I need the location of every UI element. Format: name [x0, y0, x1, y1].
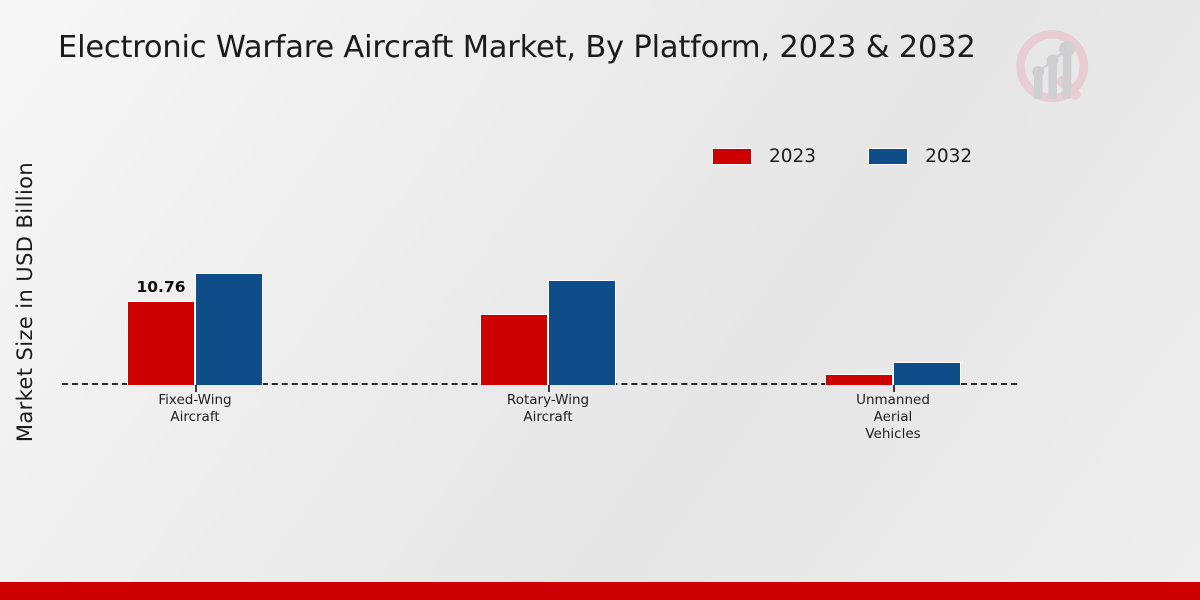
bar-2032-fixed-wing-aircraft[interactable] — [195, 273, 263, 385]
x-axis-category-label: Fixed-WingAircraft — [75, 392, 315, 426]
x-axis-category-label: Rotary-WingAircraft — [428, 392, 668, 426]
bar-2023-rotary-wing-aircraft[interactable] — [480, 314, 548, 385]
bar-group: 10.76Fixed-WingAircraft — [127, 140, 263, 385]
category-label-line: Fixed-Wing — [75, 392, 315, 409]
category-label-line: Aerial — [773, 409, 1013, 426]
bar-2032-rotary-wing-aircraft[interactable] — [548, 280, 616, 385]
category-label-line: Vehicles — [773, 426, 1013, 443]
plot-area: 10.76Fixed-WingAircraftRotary-WingAircra… — [62, 140, 1017, 385]
bottom-accent-strip — [0, 582, 1200, 600]
chart-title: Electronic Warfare Aircraft Market, By P… — [58, 30, 988, 65]
bar-2023-unmanned-aerial-vehicles[interactable] — [825, 374, 893, 385]
bar-2032-unmanned-aerial-vehicles[interactable] — [893, 362, 961, 385]
bar-group: Rotary-WingAircraft — [480, 140, 616, 385]
bar-2023-fixed-wing-aircraft[interactable] — [127, 301, 195, 385]
market-research-magnifier-logo — [1008, 22, 1104, 118]
bar-group-bars — [127, 140, 263, 385]
bar-group-bars — [480, 140, 616, 385]
y-axis-label: Market Size in USD Billion — [13, 122, 37, 482]
x-axis-category-label: UnmannedAerialVehicles — [773, 392, 1013, 443]
x-axis-tick — [548, 385, 550, 392]
x-axis-tick — [195, 385, 197, 392]
y-axis-label-container: Market Size in USD Billion — [0, 0, 46, 600]
chart-canvas: Electronic Warfare Aircraft Market, By P… — [0, 0, 1200, 600]
bar-group: UnmannedAerialVehicles — [825, 140, 961, 385]
bar-group-bars — [825, 140, 961, 385]
category-label-line: Rotary-Wing — [428, 392, 668, 409]
x-axis-tick — [893, 385, 895, 392]
category-label-line: Unmanned — [773, 392, 1013, 409]
category-label-line: Aircraft — [428, 409, 668, 426]
category-label-line: Aircraft — [75, 409, 315, 426]
